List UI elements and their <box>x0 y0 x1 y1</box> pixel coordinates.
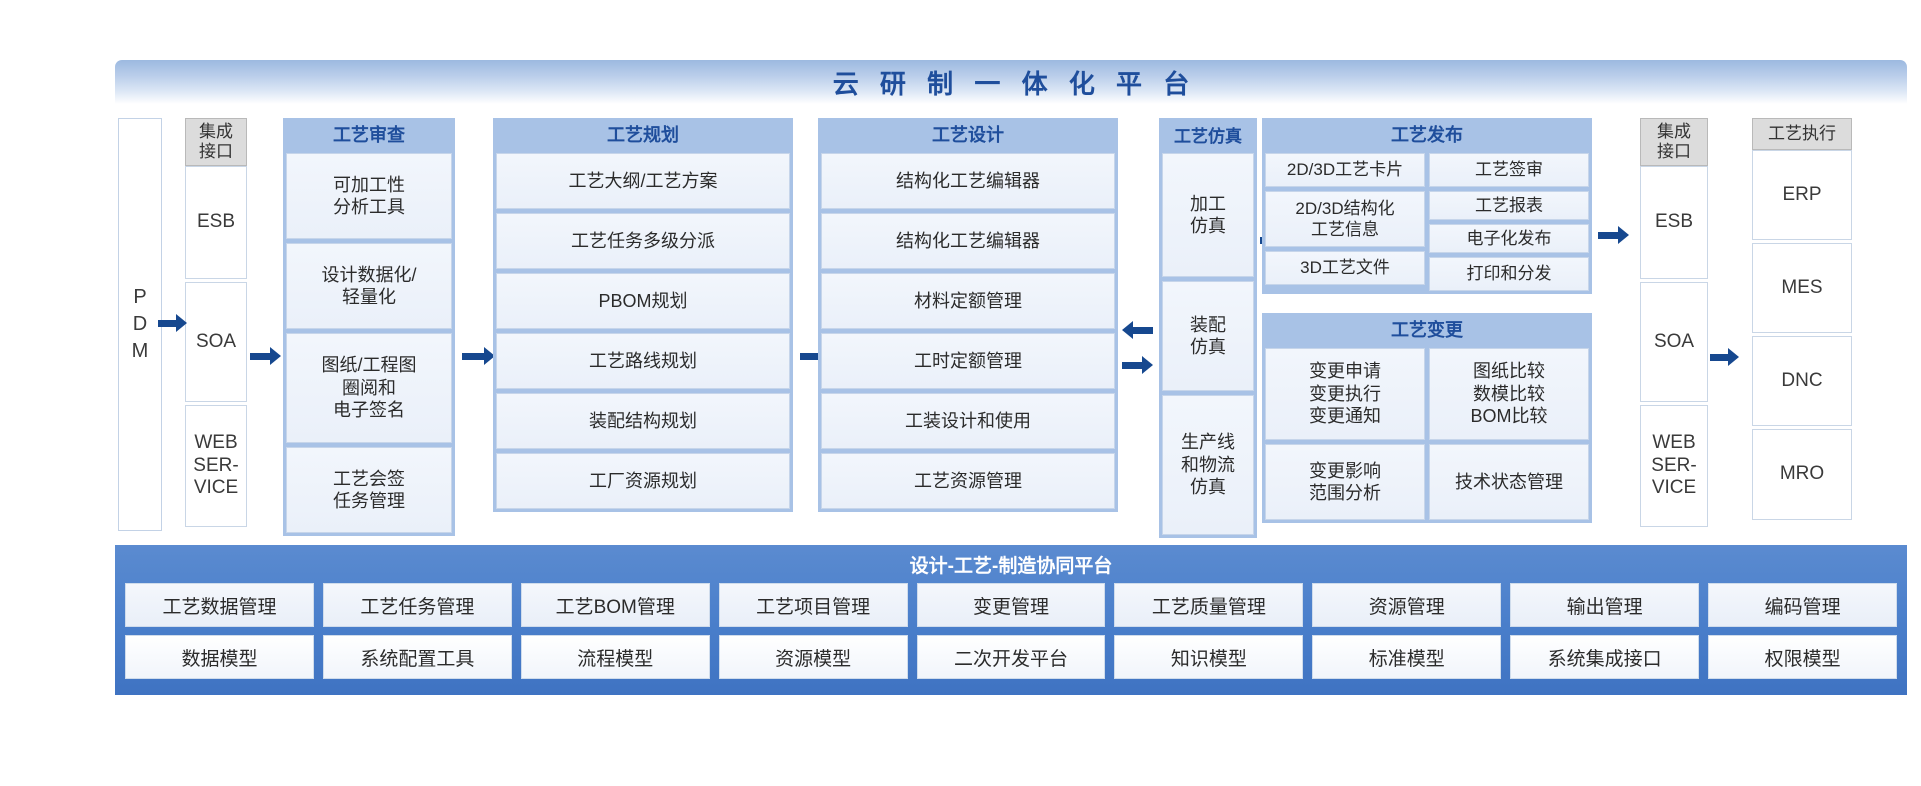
process-planning-item[interactable]: 工艺大纲/工艺方案 <box>496 153 790 209</box>
platform-title: 设计-工艺-制造协同平台 <box>125 545 1897 583</box>
process-change-right-col: 图纸比较 数模比较 BOM比较 技术状态管理 <box>1429 348 1589 520</box>
process-design-header: 工艺设计 <box>818 118 1118 150</box>
column-process-review: 工艺审查 可加工性 分析工具 设计数据化/ 轻量化 图纸/工程图 圈阅和 电子签… <box>283 118 455 536</box>
process-review-item[interactable]: 可加工性 分析工具 <box>286 153 452 239</box>
right-integration-header-line2: 接口 <box>1657 142 1691 162</box>
platform-cell[interactable]: 工艺BOM管理 <box>521 583 710 627</box>
main-diagram-row: P D M 集成 接口 ESB SOA WEB SER- VICE 工艺审查 可… <box>0 118 1921 538</box>
right-integration-item-soa[interactable]: SOA <box>1640 282 1708 402</box>
right-integration-column: 集成 接口 ESB SOA WEB SER- VICE <box>1640 118 1708 531</box>
process-change-grid: 变更申请 变更执行 变更通知 变更影响 范围分析 图纸比较 数模比较 BOM比较… <box>1265 348 1589 520</box>
process-release-item[interactable]: 2D/3D工艺卡片 <box>1265 153 1425 187</box>
platform-cell[interactable]: 编码管理 <box>1708 583 1897 627</box>
platform-cell[interactable]: 工艺数据管理 <box>125 583 314 627</box>
arrow-release-to-right-integration <box>1598 226 1629 244</box>
left-integration-header-line2: 接口 <box>199 142 233 162</box>
platform-row-1: 工艺数据管理 工艺任务管理 工艺BOM管理 工艺项目管理 变更管理 工艺质量管理… <box>125 583 1897 627</box>
platform-cell[interactable]: 工艺质量管理 <box>1114 583 1303 627</box>
process-simulation-item[interactable]: 生产线 和物流 仿真 <box>1162 395 1254 535</box>
platform-cell[interactable]: 资源管理 <box>1312 583 1501 627</box>
arrow-integration-to-execution <box>1710 348 1739 366</box>
platform-cell[interactable]: 系统配置工具 <box>323 635 512 679</box>
left-integration-header: 集成 接口 <box>185 118 247 166</box>
process-execution-item[interactable]: MRO <box>1752 429 1852 520</box>
platform-row-2: 数据模型 系统配置工具 流程模型 资源模型 二次开发平台 知识模型 标准模型 系… <box>125 635 1897 679</box>
platform-cell[interactable]: 权限模型 <box>1708 635 1897 679</box>
left-integration-item-esb[interactable]: ESB <box>185 166 247 279</box>
page-title: 云 研 制 一 体 化 平 台 <box>826 64 1197 101</box>
process-planning-item[interactable]: 装配结构规划 <box>496 393 790 449</box>
process-design-item[interactable]: 材料定额管理 <box>821 273 1115 329</box>
process-release-grid: 2D/3D工艺卡片 2D/3D结构化 工艺信息 3D工艺文件 工艺签审 工艺报表… <box>1265 153 1589 291</box>
process-review-item[interactable]: 设计数据化/ 轻量化 <box>286 243 452 329</box>
main-title-banner: 云 研 制 一 体 化 平 台 <box>115 60 1907 104</box>
process-release-item[interactable]: 工艺报表 <box>1429 191 1589 220</box>
platform-cell[interactable]: 资源模型 <box>719 635 908 679</box>
left-web-line2: SER- <box>193 455 238 478</box>
left-integration-column: 集成 接口 ESB SOA WEB SER- VICE <box>185 118 247 531</box>
process-release-item[interactable]: 打印和分发 <box>1429 257 1589 291</box>
process-change-item[interactable]: 技术状态管理 <box>1429 444 1589 520</box>
process-execution-item[interactable]: MES <box>1752 243 1852 333</box>
arrow-pdm-to-integration <box>158 314 187 332</box>
column-process-simulation: 工艺仿真 加工 仿真 装配 仿真 生产线 和物流 仿真 <box>1159 118 1257 538</box>
process-execution-item[interactable]: DNC <box>1752 336 1852 426</box>
left-soa-label: SOA <box>196 331 236 354</box>
left-web-line1: WEB <box>194 432 237 455</box>
right-web-line2: SER- <box>1651 455 1696 478</box>
arrow-design-to-simulation <box>1122 356 1153 374</box>
process-design-item[interactable]: 工时定额管理 <box>821 333 1115 389</box>
section-process-release: 工艺发布 2D/3D工艺卡片 2D/3D结构化 工艺信息 3D工艺文件 工艺签审… <box>1262 118 1592 294</box>
left-integration-item-soa[interactable]: SOA <box>185 282 247 402</box>
diagram-root: 云 研 制 一 体 化 平 台 P D M 集成 接口 ESB SOA WEB … <box>0 0 1921 786</box>
platform-cell[interactable]: 工艺项目管理 <box>719 583 908 627</box>
process-design-item[interactable]: 工艺资源管理 <box>821 453 1115 509</box>
process-change-item[interactable]: 图纸比较 数模比较 BOM比较 <box>1429 348 1589 440</box>
right-integration-header-line1: 集成 <box>1657 122 1691 142</box>
pdm-letter-m: M <box>132 338 149 365</box>
process-execution-header: 工艺执行 <box>1752 118 1852 150</box>
platform-cell[interactable]: 系统集成接口 <box>1510 635 1699 679</box>
process-release-header: 工艺发布 <box>1262 118 1592 150</box>
left-esb-label: ESB <box>197 211 235 234</box>
pdm-box[interactable]: P D M <box>118 118 162 531</box>
process-simulation-item[interactable]: 加工 仿真 <box>1162 153 1254 277</box>
process-change-item[interactable]: 变更影响 范围分析 <box>1265 444 1425 520</box>
arrow-review-to-planning <box>462 347 495 365</box>
platform-cell[interactable]: 标准模型 <box>1312 635 1501 679</box>
platform-cell[interactable]: 数据模型 <box>125 635 314 679</box>
section-process-change: 工艺变更 变更申请 变更执行 变更通知 变更影响 范围分析 图纸比较 数模比较 … <box>1262 313 1592 523</box>
process-release-item[interactable]: 工艺签审 <box>1429 153 1589 187</box>
right-integration-header: 集成 接口 <box>1640 118 1708 166</box>
process-change-left-col: 变更申请 变更执行 变更通知 变更影响 范围分析 <box>1265 348 1425 520</box>
arrow-simulation-to-design <box>1122 321 1153 339</box>
process-planning-header: 工艺规划 <box>493 118 793 150</box>
pdm-letter-d: D <box>133 311 147 338</box>
pdm-letter-p: P <box>133 284 146 311</box>
process-simulation-header: 工艺仿真 <box>1159 118 1257 150</box>
process-release-item[interactable]: 2D/3D结构化 工艺信息 <box>1265 191 1425 247</box>
process-release-item[interactable]: 3D工艺文件 <box>1265 251 1425 285</box>
column-process-planning: 工艺规划 工艺大纲/工艺方案 工艺任务多级分派 PBOM规划 工艺路线规划 装配… <box>493 118 793 512</box>
right-integration-item-esb[interactable]: ESB <box>1640 166 1708 279</box>
platform-cell[interactable]: 工艺任务管理 <box>323 583 512 627</box>
process-planning-item[interactable]: 工厂资源规划 <box>496 453 790 509</box>
column-process-execution: 工艺执行 ERP MES DNC MRO <box>1752 118 1852 531</box>
left-web-line3: VICE <box>194 477 238 500</box>
platform-cell[interactable]: 输出管理 <box>1510 583 1699 627</box>
platform-cell[interactable]: 流程模型 <box>521 635 710 679</box>
process-simulation-item[interactable]: 装配 仿真 <box>1162 281 1254 391</box>
right-web-line3: VICE <box>1652 477 1696 500</box>
right-web-line1: WEB <box>1652 432 1695 455</box>
process-execution-item[interactable]: ERP <box>1752 150 1852 240</box>
process-review-item[interactable]: 图纸/工程图 圈阅和 电子签名 <box>286 333 452 443</box>
collaboration-platform: 设计-工艺-制造协同平台 工艺数据管理 工艺任务管理 工艺BOM管理 工艺项目管… <box>115 545 1907 695</box>
column-process-design: 工艺设计 结构化工艺编辑器 结构化工艺编辑器 材料定额管理 工时定额管理 工装设… <box>818 118 1118 512</box>
process-change-item[interactable]: 变更申请 变更执行 变更通知 <box>1265 348 1425 440</box>
left-integration-item-webservice[interactable]: WEB SER- VICE <box>185 405 247 527</box>
process-release-right-col: 工艺签审 工艺报表 电子化发布 打印和分发 <box>1429 153 1589 291</box>
platform-cell[interactable]: 变更管理 <box>917 583 1106 627</box>
process-release-left-col: 2D/3D工艺卡片 2D/3D结构化 工艺信息 3D工艺文件 <box>1265 153 1425 291</box>
process-planning-item[interactable]: 工艺任务多级分派 <box>496 213 790 269</box>
process-design-item[interactable]: 结构化工艺编辑器 <box>821 213 1115 269</box>
right-soa-label: SOA <box>1654 331 1694 354</box>
process-planning-item[interactable]: PBOM规划 <box>496 273 790 329</box>
process-design-item[interactable]: 工装设计和使用 <box>821 393 1115 449</box>
platform-cell[interactable]: 知识模型 <box>1114 635 1303 679</box>
process-review-header: 工艺审查 <box>283 118 455 150</box>
process-planning-item[interactable]: 工艺路线规划 <box>496 333 790 389</box>
process-review-item[interactable]: 工艺会签 任务管理 <box>286 447 452 533</box>
process-design-item[interactable]: 结构化工艺编辑器 <box>821 153 1115 209</box>
platform-cell[interactable]: 二次开发平台 <box>917 635 1106 679</box>
left-integration-header-line1: 集成 <box>199 122 233 142</box>
right-esb-label: ESB <box>1655 211 1693 234</box>
process-change-header: 工艺变更 <box>1262 313 1592 345</box>
arrow-integration-to-review <box>250 347 281 365</box>
right-integration-item-webservice[interactable]: WEB SER- VICE <box>1640 405 1708 527</box>
process-release-item[interactable]: 电子化发布 <box>1429 224 1589 253</box>
